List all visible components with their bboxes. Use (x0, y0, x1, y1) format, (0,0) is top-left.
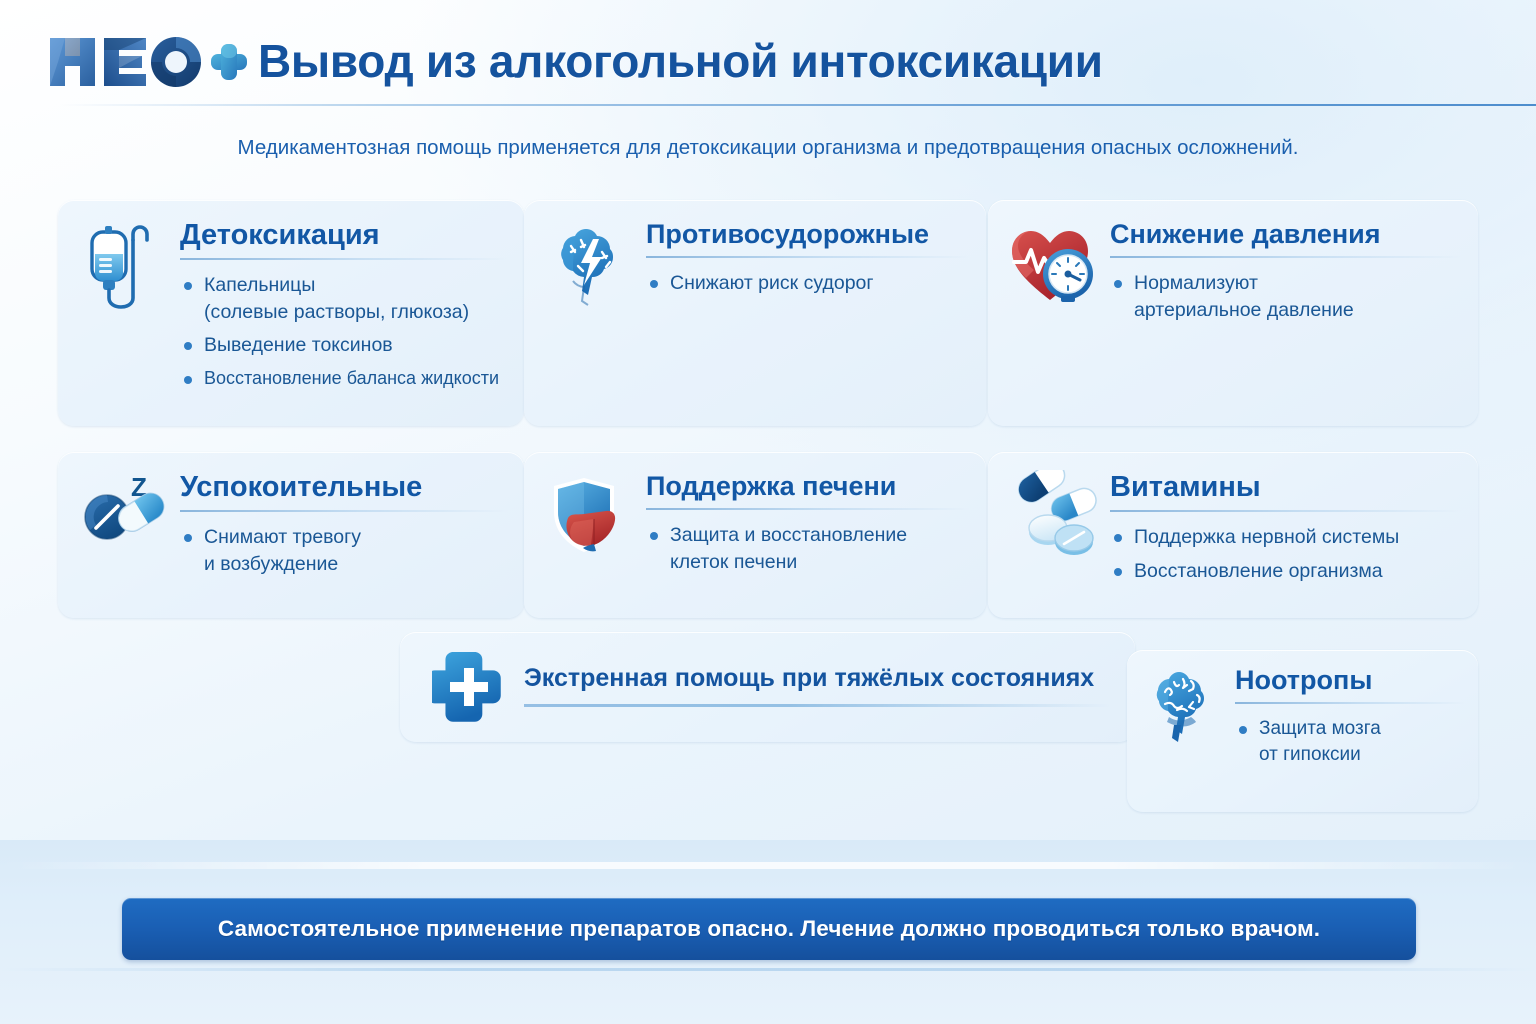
bullet-text: Капельницы (204, 274, 315, 296)
medical-cross-icon (432, 652, 506, 722)
card-blood-pressure[interactable]: Снижение давления Нормализуют артериальн… (988, 200, 1478, 426)
list-item: Выведение токсинов (180, 332, 508, 359)
bullet-subtext: от гипоксии (1259, 742, 1466, 768)
card-liver-support[interactable]: Поддержка печени Защита и восстановление… (524, 452, 986, 618)
card-title: Детоксикация (180, 220, 508, 258)
title-divider (1235, 702, 1466, 704)
emergency-divider (524, 704, 1111, 707)
page-header: Вывод из алкогольной интоксикации (0, 0, 1536, 108)
page-subtitle: Медикаментозная помощь применяется для д… (0, 136, 1536, 160)
bullet-text: Нормализуют (1134, 272, 1258, 294)
title-divider (180, 258, 508, 260)
bullet-list: Защита мозга от гипоксии (1235, 716, 1466, 768)
pill-sleep-icon: Z (74, 470, 170, 566)
bullet-list: Капельницы (солевые растворы, глюкоза) В… (180, 272, 508, 390)
title-divider (646, 508, 970, 510)
title-divider (1110, 256, 1462, 258)
title-divider (180, 510, 508, 512)
band-sheen-top (0, 862, 1536, 869)
card-title: Ноотропы (1235, 666, 1466, 702)
card-title: Витамины (1110, 472, 1462, 510)
title-divider (1110, 510, 1462, 512)
card-title: Снижение давления (1110, 220, 1462, 256)
list-item: Восстановление баланса жидкости (180, 366, 508, 390)
list-item: Снимают тревогу и возбуждение (180, 524, 508, 577)
list-item: Поддержка нервной системы (1110, 524, 1462, 551)
brain-icon (1141, 662, 1227, 748)
bullet-text: Защита мозга (1259, 718, 1381, 739)
card-title: Противосудорожные (646, 220, 970, 256)
bullet-list: Нормализуют артериальное давление (1110, 270, 1462, 323)
emergency-help-label: Экстренная помощь при тяжёлых состояниях (524, 664, 1094, 693)
bullet-subtext: (солевые растворы, глюкоза) (204, 299, 508, 326)
brain-lightning-icon (540, 218, 636, 314)
list-item: Снижают риск судорог (646, 270, 970, 297)
list-item: Защита и восстановление клеток печени (646, 522, 970, 575)
card-sedatives[interactable]: Z Успокоительные Снимают тревогу и в (58, 452, 524, 618)
pills-capsules-icon (1004, 470, 1100, 566)
brand-logo[interactable] (48, 32, 248, 90)
list-item: Восстановление организма (1110, 558, 1462, 585)
list-item: Капельницы (солевые растворы, глюкоза) (180, 272, 508, 325)
card-vitamins[interactable]: Витамины Поддержка нервной системы Восст… (988, 452, 1478, 618)
neo-plus-logo-icon (48, 32, 248, 90)
bullet-list: Снижают риск судорог (646, 270, 970, 297)
emergency-help-banner[interactable]: Экстренная помощь при тяжёлых состояниях (400, 632, 1135, 742)
bullet-subtext: и возбуждение (204, 551, 508, 578)
bullet-subtext: артериальное давление (1134, 297, 1462, 324)
iv-drip-icon (74, 218, 170, 314)
bullet-list: Защита и восстановление клеток печени (646, 522, 970, 575)
bullet-subtext: клеток печени (670, 549, 970, 576)
card-title: Успокоительные (180, 472, 508, 510)
bullet-text: Снимают тревогу (204, 526, 361, 548)
card-anticonvulsants[interactable]: Противосудорожные Снижают риск судорог (524, 200, 986, 426)
card-detoxification[interactable]: Детоксикация Капельницы (солевые раствор… (58, 200, 524, 426)
title-divider (646, 256, 970, 258)
header-divider (60, 104, 1536, 106)
bullet-list: Снимают тревогу и возбуждение (180, 524, 508, 577)
page-title: Вывод из алкогольной интоксикации (258, 34, 1103, 88)
bullet-text: Защита и восстановление (670, 524, 907, 546)
bullet-list: Поддержка нервной системы Восстановление… (1110, 524, 1462, 584)
warning-text: Самостоятельное применение препаратов оп… (218, 916, 1320, 942)
list-item: Защита мозга от гипоксии (1235, 716, 1466, 768)
heart-pressure-gauge-icon (1004, 218, 1100, 314)
band-sheen-bottom (0, 968, 1536, 971)
warning-banner: Самостоятельное применение препаратов оп… (122, 898, 1416, 960)
list-item: Нормализуют артериальное давление (1110, 270, 1462, 323)
shield-liver-icon (540, 470, 636, 566)
card-title: Поддержка печени (646, 472, 970, 508)
card-nootropics[interactable]: Ноотропы Защита мозга от гипоксии (1127, 650, 1478, 812)
